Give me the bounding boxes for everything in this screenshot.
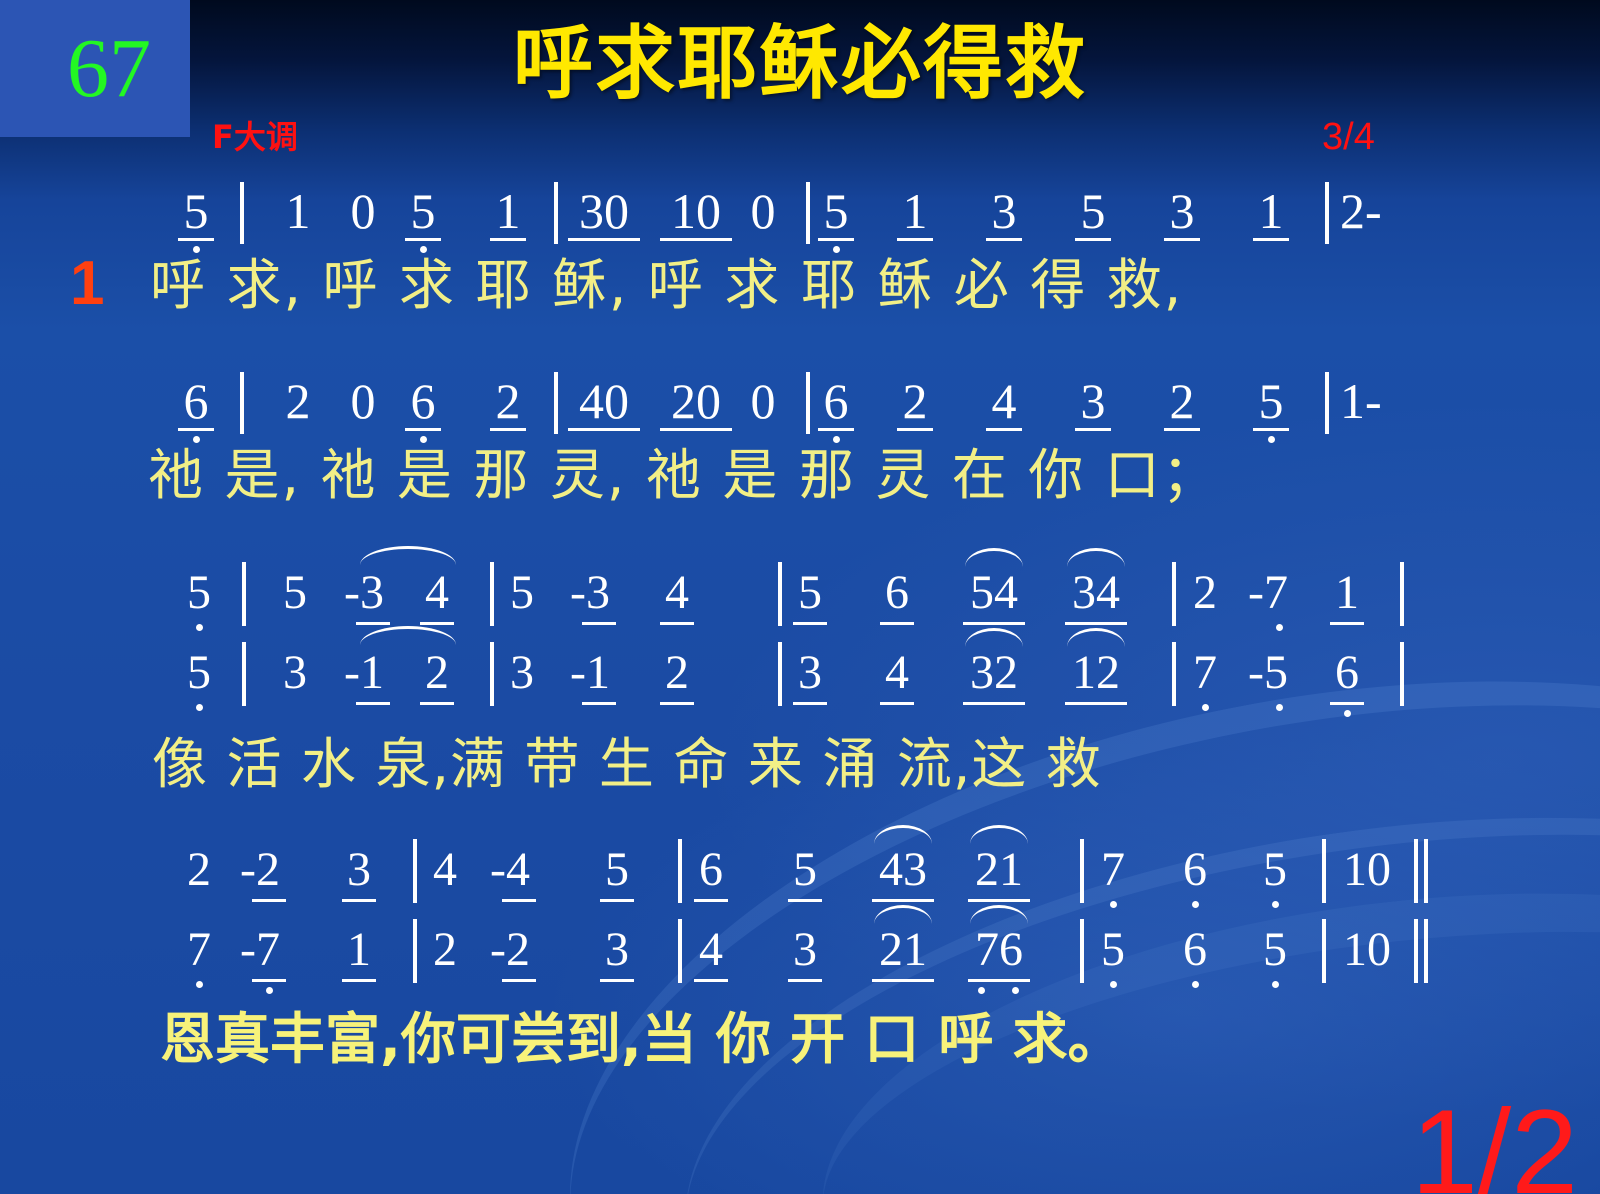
note: 2	[660, 648, 694, 698]
note: 4	[986, 376, 1022, 426]
note: 3	[342, 845, 376, 895]
note: 6	[178, 376, 214, 426]
note: 5	[1075, 186, 1111, 236]
verse-number: 1	[70, 253, 104, 315]
barline	[413, 919, 417, 983]
barline	[678, 919, 682, 983]
note: 3	[505, 648, 539, 698]
slur	[360, 626, 456, 645]
note: 21	[872, 925, 934, 975]
note: 5	[1253, 376, 1289, 426]
note: 7	[1096, 845, 1130, 895]
barline	[1080, 839, 1084, 903]
note: 5	[178, 186, 214, 236]
note: 21	[968, 845, 1030, 895]
note: 5	[182, 568, 216, 618]
note: 76	[968, 925, 1030, 975]
note: 20	[660, 376, 732, 426]
key-signature-label: F大调	[212, 121, 298, 153]
note: 43	[872, 845, 934, 895]
note: 6	[694, 845, 728, 895]
barline	[413, 839, 417, 903]
note: 1	[897, 186, 933, 236]
note: 6	[818, 376, 854, 426]
barline	[1400, 562, 1404, 626]
lyrics-line-1: 呼 求, 呼 求 耶 稣, 呼 求 耶 稣 必 得 救,	[150, 256, 1183, 314]
barline	[678, 839, 682, 903]
note: 3	[793, 648, 827, 698]
final-barline	[1414, 839, 1418, 903]
note: 6	[1330, 648, 1364, 698]
note: 1	[1253, 186, 1289, 236]
note: 7	[1188, 648, 1222, 698]
note: 7	[182, 925, 216, 975]
note: 34	[1065, 568, 1127, 618]
note: 0	[345, 376, 381, 426]
note: 2	[490, 376, 526, 426]
note: 5	[1258, 925, 1292, 975]
note: 32	[963, 648, 1025, 698]
note: 4	[694, 925, 728, 975]
notation-line-3-upper: 5 5 -3 4 5 -3 4 5 6 54 34 2 -7 1	[0, 568, 1600, 628]
note: 3	[1075, 376, 1111, 426]
barline	[490, 642, 494, 706]
note: 5	[600, 845, 634, 895]
note: 10	[660, 186, 732, 236]
note: -3	[562, 568, 618, 618]
note: 1	[1330, 568, 1364, 618]
barline	[806, 372, 810, 434]
note: 2	[428, 925, 462, 975]
barline	[806, 182, 810, 244]
barline	[1322, 839, 1326, 903]
barline	[1080, 919, 1084, 983]
barline	[1325, 182, 1329, 244]
barline	[1400, 642, 1404, 706]
lyrics-line-2: 祂 是, 祂 是 那 灵, 祂 是 那 灵 在 你 口；	[148, 446, 1219, 504]
note: 5	[1258, 845, 1292, 895]
note: 2	[1164, 376, 1200, 426]
note: 3	[600, 925, 634, 975]
slur	[970, 825, 1028, 844]
slur	[1067, 628, 1125, 647]
note: 1	[280, 186, 316, 236]
note: 2	[182, 845, 216, 895]
barline	[1172, 642, 1176, 706]
barline	[490, 562, 494, 626]
note: 30	[568, 186, 640, 236]
note: 10	[1336, 925, 1398, 975]
note: 5	[1096, 925, 1130, 975]
note: 4	[420, 568, 454, 618]
note: 40	[568, 376, 640, 426]
barline	[1322, 919, 1326, 983]
note: 0	[748, 186, 778, 236]
barline	[778, 562, 782, 626]
note: 0	[345, 186, 381, 236]
note: 1-	[1340, 376, 1430, 426]
barline	[242, 642, 246, 706]
note: 3	[278, 648, 312, 698]
note: -7	[232, 925, 288, 975]
note: -5	[1240, 648, 1296, 698]
barline	[554, 182, 558, 244]
slur	[970, 905, 1028, 924]
notation-line-3-lower: 5 3 -1 2 3 -1 2 3 4 32 12 7 -5 6	[0, 648, 1600, 708]
note: 12	[1065, 648, 1127, 698]
lyrics-line-3: 像 活 水 泉,满 带 生 命 来 涌 流,这 救	[152, 735, 1102, 793]
final-barline	[1424, 839, 1428, 903]
note: 1	[490, 186, 526, 236]
slur	[965, 548, 1023, 567]
note: 6	[1178, 925, 1212, 975]
note: 5	[505, 568, 539, 618]
note: -4	[482, 845, 538, 895]
note: 5	[405, 186, 441, 236]
slur	[965, 628, 1023, 647]
note: -7	[1240, 568, 1296, 618]
note: 4	[880, 648, 914, 698]
note: 10	[1336, 845, 1398, 895]
slur	[874, 825, 932, 844]
notation-line-4-upper: 2 -2 3 4 -4 5 6 5 43 21 7 6 5 10	[0, 845, 1600, 905]
note: 4	[428, 845, 462, 895]
note: 4	[660, 568, 694, 618]
note: 3	[1164, 186, 1200, 236]
barline	[1325, 372, 1329, 434]
note: 54	[963, 568, 1025, 618]
note: 2	[420, 648, 454, 698]
barline	[242, 562, 246, 626]
note: 5	[793, 568, 827, 618]
note: 5	[278, 568, 312, 618]
slur	[1067, 548, 1125, 567]
note: 6	[880, 568, 914, 618]
note: 5	[788, 845, 822, 895]
hymn-slide: 67 呼求耶稣必得救 F大调 3/4 5 1 0 5 1 30 10 0 5 1…	[0, 0, 1600, 1194]
note: 5	[818, 186, 854, 236]
final-barline	[1424, 919, 1428, 983]
note: -1	[336, 648, 392, 698]
note: -1	[562, 648, 618, 698]
notation-line-2: 6 2 0 6 2 40 20 0 6 2 4 3 2 5 1-	[0, 376, 1600, 438]
note: 3	[986, 186, 1022, 236]
barline	[778, 642, 782, 706]
slur	[874, 905, 932, 924]
note: -3	[336, 568, 392, 618]
note: 6	[1178, 845, 1212, 895]
page-indicator: 1/2	[1411, 1092, 1578, 1194]
time-signature-label: 3/4	[1322, 118, 1375, 156]
notation-line-4-lower: 7 -7 1 2 -2 3 4 3 21 76 5 6 5 10	[0, 925, 1600, 985]
note: 6	[405, 376, 441, 426]
note: -2	[232, 845, 288, 895]
final-barline	[1414, 919, 1418, 983]
note: -2	[482, 925, 538, 975]
lyrics-line-4: 恩真丰富,你可尝到,当 你 开 口 呼 求。	[160, 1010, 1123, 1068]
page-title: 呼求耶稣必得救	[0, 22, 1600, 106]
note: 2	[1188, 568, 1222, 618]
barline	[554, 372, 558, 434]
note: 5	[182, 648, 216, 698]
note: 2	[280, 376, 316, 426]
slur	[360, 546, 456, 565]
barline	[240, 182, 244, 244]
note: 2-	[1340, 186, 1430, 236]
note: 0	[748, 376, 778, 426]
note: 1	[342, 925, 376, 975]
note: 3	[788, 925, 822, 975]
barline	[240, 372, 244, 434]
notation-line-1: 5 1 0 5 1 30 10 0 5 1 3 5 3 1 2-	[0, 186, 1600, 248]
note: 2	[897, 376, 933, 426]
barline	[1172, 562, 1176, 626]
